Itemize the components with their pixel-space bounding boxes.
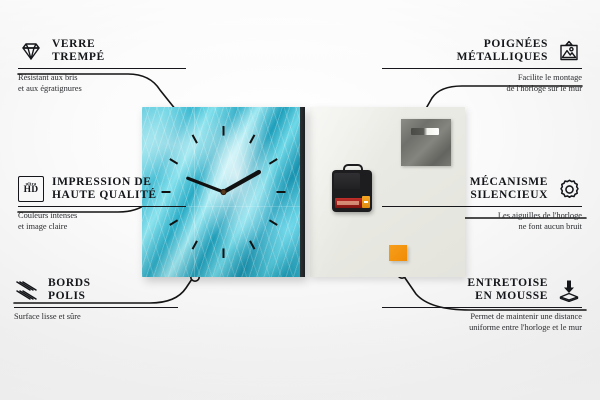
foam-spacer-icon <box>556 277 582 303</box>
feature-bords-polis: BORDS POLIS Surface lisse et sûre <box>14 277 214 323</box>
feature-heading: MÉCANISME SILENCIEUX <box>382 176 582 202</box>
feature-description: Facilite le montage de l'horloge sur le … <box>382 73 582 94</box>
gear-icon <box>556 176 582 202</box>
feature-rule <box>18 206 186 207</box>
ultra-hd-icon: ultra HD <box>18 176 44 202</box>
feature-description: Permet de maintenir une distance uniform… <box>382 312 582 333</box>
hour-marker <box>193 135 197 143</box>
feature-verre-trempe: VERRE TREMPÉ Résistant aux bris et aux é… <box>18 38 218 94</box>
feature-heading: ultra HD IMPRESSION DE HAUTE QUALITÉ <box>18 176 218 202</box>
feature-title: BORDS POLIS <box>48 277 91 303</box>
feature-heading: BORDS POLIS <box>14 277 214 303</box>
feature-impression-haute-qualite: ultra HD IMPRESSION DE HAUTE QUALITÉ Cou… <box>18 176 218 232</box>
feature-entretoise-en-mousse: ENTRETOISE EN MOUSSE Permet de maintenir… <box>382 277 582 333</box>
feature-heading: POIGNÉES MÉTALLIQUES <box>382 38 582 64</box>
feature-rule <box>382 307 582 308</box>
metal-bracket <box>401 119 451 166</box>
feature-title: VERRE TREMPÉ <box>52 38 105 64</box>
feature-description: Résistant aux bris et aux égratignures <box>18 73 218 94</box>
mechanism-body <box>334 173 360 189</box>
feature-heading: VERRE TREMPÉ <box>18 38 218 64</box>
hd-badge: ultra HD <box>18 176 44 202</box>
feature-description: Couleurs intenses et image claire <box>18 211 218 232</box>
feature-rule <box>382 68 582 69</box>
feature-title: IMPRESSION DE HAUTE QUALITÉ <box>52 176 157 202</box>
panel-right-edge <box>300 107 305 277</box>
polished-edge-icon <box>14 277 40 303</box>
foam-spacer <box>389 245 407 261</box>
clock-mechanism <box>332 170 372 212</box>
hour-marker <box>250 135 254 143</box>
hour-marker <box>250 241 254 249</box>
battery-label <box>337 201 359 205</box>
clock-center-cap <box>221 189 226 194</box>
picture-frame-hanger-icon <box>556 38 582 64</box>
feature-title: POIGNÉES MÉTALLIQUES <box>457 38 548 64</box>
feature-description: Surface lisse et sûre <box>14 312 214 323</box>
hour-hand <box>224 172 259 192</box>
infographic-poster: VERRE TREMPÉ Résistant aux bris et aux é… <box>0 0 600 400</box>
feature-rule <box>14 307 178 308</box>
battery-terminal <box>362 196 370 208</box>
hour-marker <box>170 159 178 164</box>
feature-description: Les aiguilles de l'horloge ne font aucun… <box>382 211 582 232</box>
hd-badge-hd: HD <box>24 186 39 196</box>
battery <box>335 198 369 208</box>
feature-poignees-metalliques: POIGNÉES MÉTALLIQUES Facilite le montage… <box>382 38 582 94</box>
hour-marker <box>269 159 277 164</box>
diamond-icon <box>18 38 44 64</box>
feature-rule <box>18 68 186 69</box>
feature-title: MÉCANISME SILENCIEUX <box>470 176 548 202</box>
feature-rule <box>382 206 582 207</box>
feature-title: ENTRETOISE EN MOUSSE <box>467 277 548 303</box>
feature-mecanisme-silencieux: MÉCANISME SILENCIEUX Les aiguilles de l'… <box>382 176 582 232</box>
bracket-slot <box>411 128 439 135</box>
hour-marker <box>269 220 277 225</box>
hour-marker <box>193 241 198 249</box>
feature-heading: ENTRETOISE EN MOUSSE <box>382 277 582 303</box>
